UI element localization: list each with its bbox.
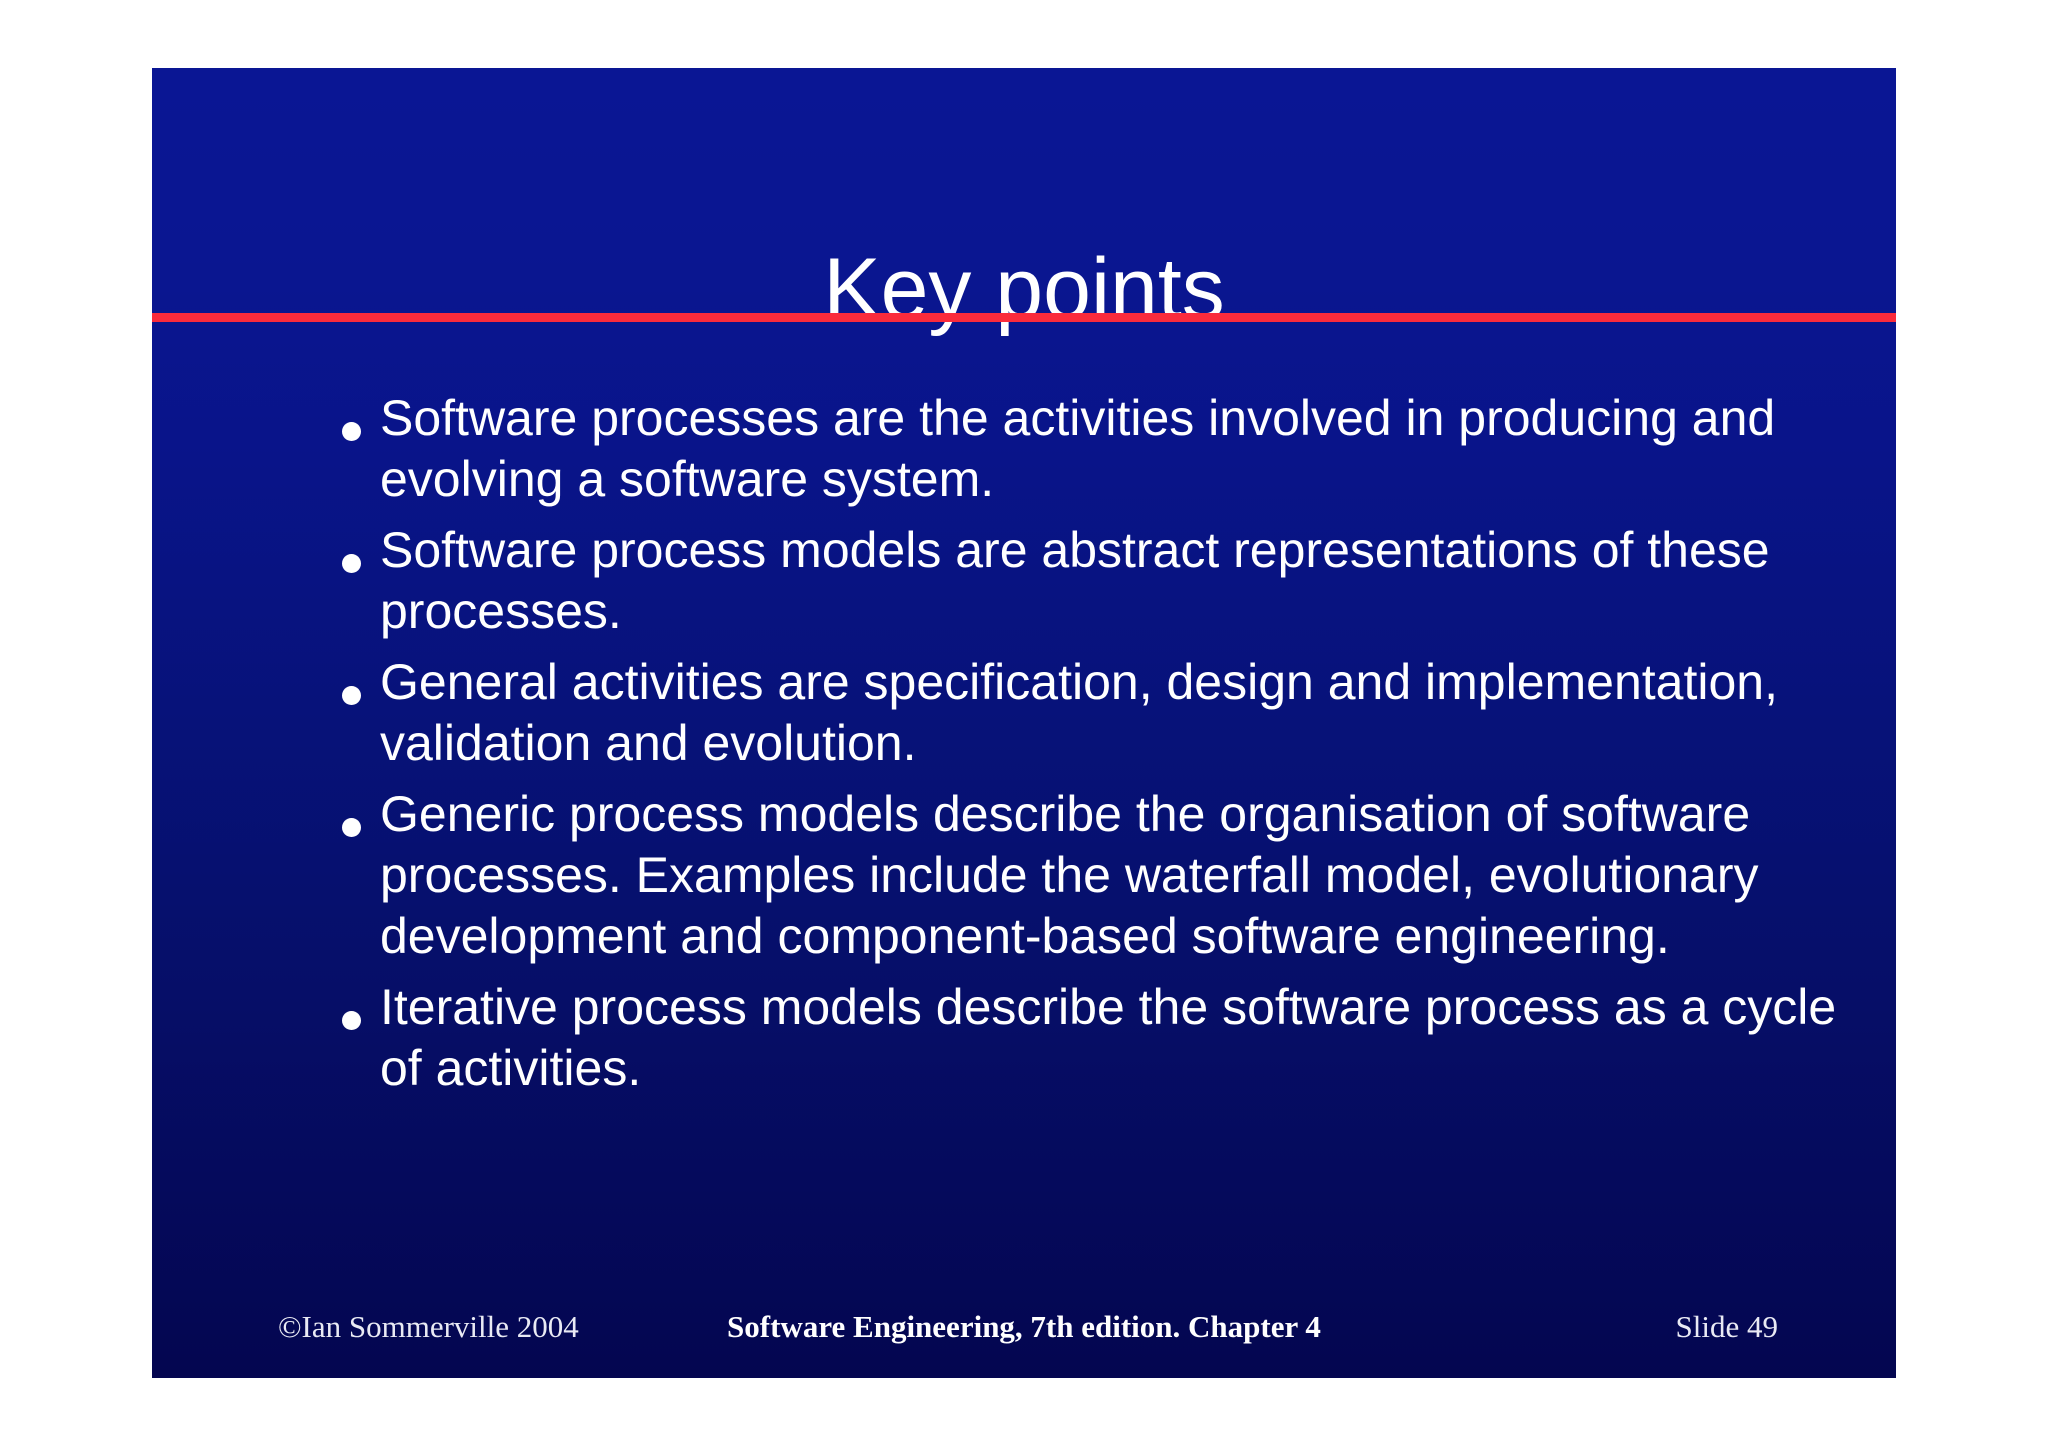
list-item: Generic process models describe the orga… xyxy=(152,784,1896,967)
list-item-label: Iterative process models describe the so… xyxy=(380,977,1896,1099)
list-item-label: Software processes are the activities in… xyxy=(380,388,1896,510)
filled-circle-bullet-icon xyxy=(342,818,380,837)
list-item: Iterative process models describe the so… xyxy=(152,977,1896,1099)
list-item-label: Software process models are abstract rep… xyxy=(380,520,1896,642)
list-item: Software process models are abstract rep… xyxy=(152,520,1896,642)
filled-circle-bullet-icon xyxy=(342,422,380,441)
bullet-list: Software processes are the activities in… xyxy=(152,388,1896,1109)
list-item-label: Generic process models describe the orga… xyxy=(380,784,1896,967)
slide-canvas: Key points Software processes are the ac… xyxy=(152,68,1896,1378)
list-item-label: General activities are specification, de… xyxy=(380,652,1896,774)
filled-circle-bullet-icon xyxy=(342,554,380,573)
list-item: General activities are specification, de… xyxy=(152,652,1896,774)
book-reference: Software Engineering, 7th edition. Chapt… xyxy=(152,1304,1896,1350)
slide-number: Slide 49 xyxy=(1676,1304,1778,1350)
title-divider-rule xyxy=(152,313,1896,322)
filled-circle-bullet-icon xyxy=(342,686,380,705)
slide-title-block: Key points xyxy=(152,188,1896,389)
slide-footer: ©Ian Sommerville 2004 Software Engineeri… xyxy=(152,1304,1896,1350)
filled-circle-bullet-icon xyxy=(342,1011,380,1030)
list-item: Software processes are the activities in… xyxy=(152,388,1896,510)
slide-page: Key points Software processes are the ac… xyxy=(0,0,2048,1447)
